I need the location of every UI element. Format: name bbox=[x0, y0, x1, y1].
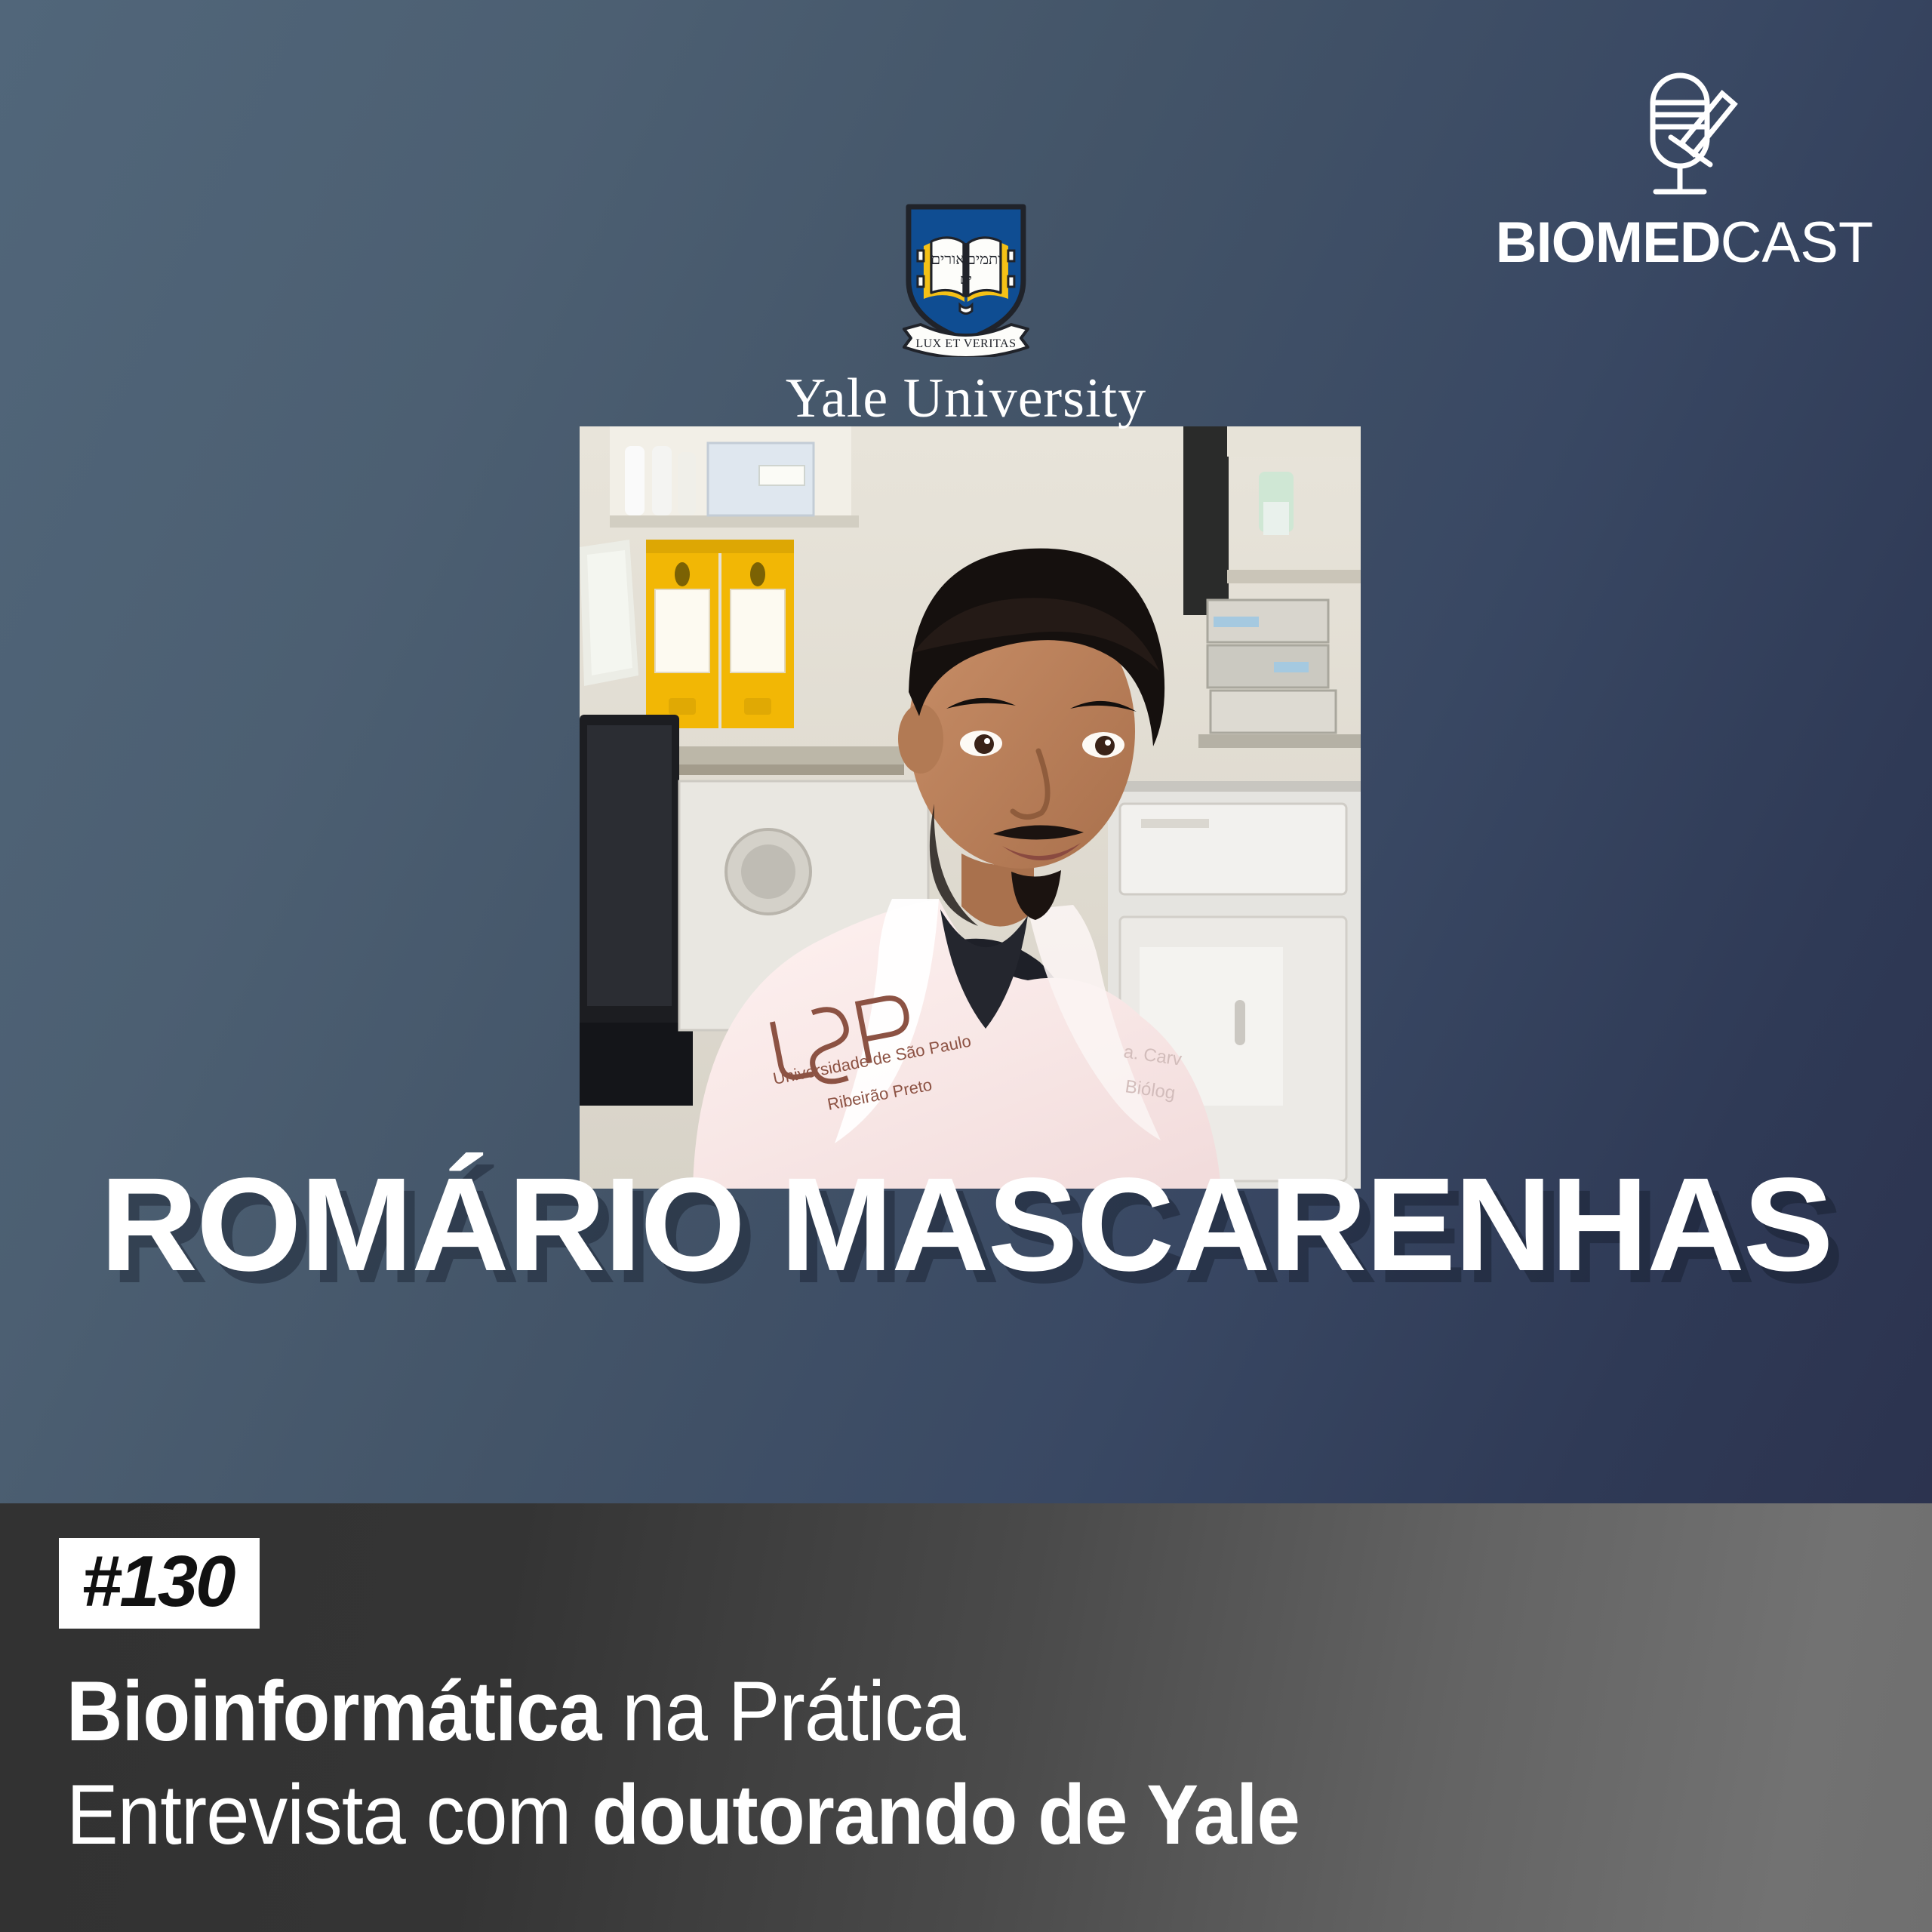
biomedcast-wordmark: BIOMEDCAST bbox=[1496, 214, 1874, 272]
podcast-cover: אורים ותמים ים LUX ET VERITAS Yale Unive… bbox=[0, 0, 1932, 1932]
episode-title-l2-light: Entrevista com bbox=[66, 1767, 592, 1862]
crest-motto: LUX ET VERITAS bbox=[915, 337, 1016, 350]
episode-title-l1-light: na Prática bbox=[601, 1664, 965, 1758]
svg-text:ותמים: ותמים bbox=[967, 251, 1002, 268]
episode-title-l2-bold: doutorando de Yale bbox=[592, 1767, 1300, 1862]
svg-text:ים: ים bbox=[960, 272, 972, 287]
yale-shield-icon: אורים ותמים ים LUX ET VERITAS bbox=[898, 202, 1034, 357]
guest-photo: Universidade de São Paulo Ribeirão Preto… bbox=[580, 426, 1361, 1189]
episode-title-line-2: Entrevista com doutorando de Yale bbox=[66, 1764, 1300, 1867]
brand-name-light: CAST bbox=[1721, 211, 1874, 275]
affiliation-block: אורים ותמים ים LUX ET VERITAS Yale Unive… bbox=[786, 202, 1146, 426]
episode-title-l1-bold: Bioinformática bbox=[66, 1664, 601, 1758]
biomedcast-logo[interactable]: BIOMEDCAST bbox=[1526, 59, 1843, 272]
episode-number-badge: #130 bbox=[59, 1538, 260, 1629]
guest-name: ROMÁRIO MASCARENHAS bbox=[0, 1158, 1932, 1291]
svg-text:אורים: אורים bbox=[931, 251, 965, 268]
microphone-pencil-icon bbox=[1609, 59, 1760, 210]
brand-name-bold: BIOMED bbox=[1496, 211, 1721, 275]
affiliation-name: Yale University bbox=[786, 371, 1146, 426]
episode-title-line-1: Bioinformática na Prática bbox=[66, 1660, 1300, 1764]
episode-title: Bioinformática na Prática Entrevista com… bbox=[66, 1660, 1300, 1866]
